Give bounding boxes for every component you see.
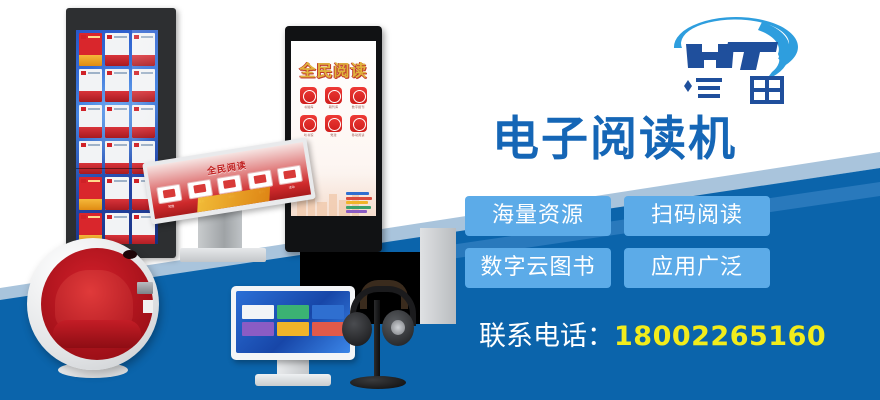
ball-chair <box>27 238 165 376</box>
tablet-base <box>255 374 331 386</box>
chair-shell <box>27 238 159 370</box>
menu-item[interactable]: 数字报刊 <box>348 87 368 109</box>
book-cover <box>105 177 128 210</box>
book-cover <box>105 141 128 174</box>
feature-badge[interactable]: 海量资源 <box>465 196 611 236</box>
contact-phone: 联系电话：18002265160 <box>479 320 826 354</box>
feature-badge[interactable]: 数字云图书 <box>465 248 611 288</box>
book-cover <box>79 141 102 174</box>
book-cover <box>105 105 128 138</box>
touch-table-screen: 全民阅读 党建 图书 期刊 报刊 活动 <box>147 142 311 219</box>
book-cover <box>79 33 102 66</box>
headphone-stand-base <box>350 376 406 389</box>
tile[interactable] <box>277 305 309 319</box>
touch-table-top: 全民阅读 党建 图书 期刊 报刊 活动 <box>142 137 316 224</box>
product-banner: 全民阅读 书籍库 期刊库 数字报刊 <box>0 0 880 400</box>
magazine-icon <box>325 87 342 104</box>
menu-item[interactable]: 书籍库 <box>299 87 319 109</box>
menu-item[interactable]: 党建 <box>324 115 344 137</box>
control-panel <box>137 282 153 294</box>
book-cover <box>79 177 102 210</box>
headphone-earcup-right <box>382 310 414 346</box>
feature-badge[interactable]: 扫码阅读 <box>624 196 770 236</box>
feature-row: 海量资源 扫码阅读 <box>465 196 795 236</box>
book-cover <box>105 33 128 66</box>
headphone-earcup-left <box>342 312 372 346</box>
chair-cushion <box>53 320 141 348</box>
headphones <box>336 280 418 392</box>
book-stack-illustration <box>346 192 372 214</box>
contact-label: 联系电话： <box>479 321 614 352</box>
feature-badge[interactable]: 应用广泛 <box>624 248 770 288</box>
chair-interior <box>41 248 153 360</box>
speaker-icon <box>123 250 137 259</box>
menu-item[interactable]: 听书馆 <box>299 115 319 137</box>
mobile-icon <box>350 115 367 132</box>
book-cover <box>79 69 102 102</box>
label-tag <box>143 300 153 313</box>
book-cover <box>79 105 102 138</box>
newspaper-icon <box>350 87 367 104</box>
tile[interactable] <box>277 322 309 336</box>
tile[interactable] <box>242 322 274 336</box>
company-logo <box>666 8 806 108</box>
table-card[interactable]: 活动 <box>277 165 303 186</box>
touch-table-base <box>180 248 266 262</box>
tablet-screen <box>236 291 350 353</box>
book-cover <box>105 69 128 102</box>
contact-number[interactable]: 18002265160 <box>614 321 826 352</box>
kiosk-reading-menu-grid: 书籍库 期刊库 数字报刊 听书馆 <box>299 87 368 137</box>
ht-logo-icon <box>666 8 806 108</box>
page-title: 电子阅读机 <box>492 112 737 168</box>
party-emblem-icon <box>325 115 342 132</box>
kiosk-reading-title: 全民阅读 <box>291 57 376 81</box>
menu-item[interactable]: 移动阅读 <box>348 115 368 137</box>
table-card[interactable]: 党建 <box>156 184 182 205</box>
tablet-tile-grid <box>242 305 344 336</box>
book-icon <box>300 87 317 104</box>
touch-table: 全民阅读 党建 图书 期刊 报刊 活动 <box>146 150 312 230</box>
tile[interactable] <box>242 305 274 319</box>
feature-badges: 海量资源 扫码阅读 数字云图书 应用广泛 <box>465 196 795 300</box>
feature-row: 数字云图书 应用广泛 <box>465 248 795 288</box>
backdrop-panel-grey <box>420 228 456 324</box>
menu-item[interactable]: 期刊库 <box>324 87 344 109</box>
check-icon <box>300 115 317 132</box>
